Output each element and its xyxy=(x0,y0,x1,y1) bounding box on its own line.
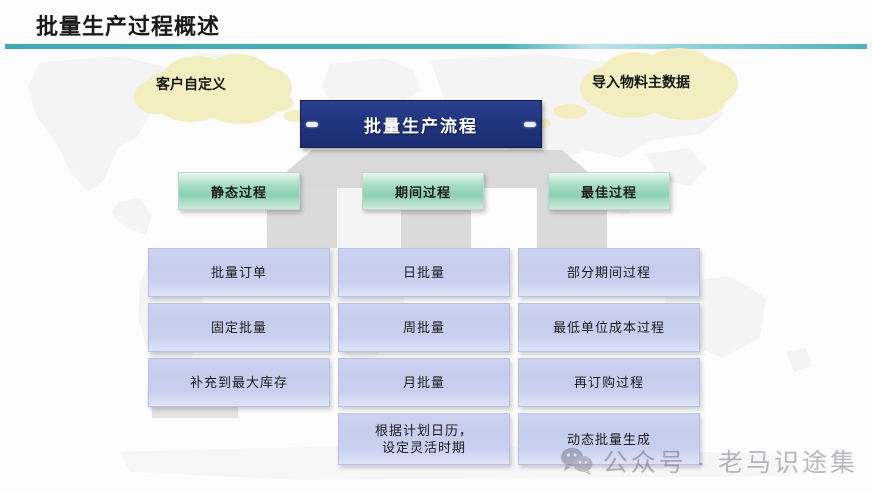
thought-cloud-left: 客户自定义 xyxy=(128,54,308,134)
item-label: 批量订单 xyxy=(211,264,267,281)
item-label: 部分期间过程 xyxy=(567,264,651,281)
item-label: 固定批量 xyxy=(211,319,267,336)
item-box[interactable]: 固定批量 xyxy=(148,303,330,352)
column-header-2-label: 期间过程 xyxy=(395,182,451,201)
item-label: 周批量 xyxy=(403,319,445,336)
banner-label: 批量生产流程 xyxy=(364,112,478,137)
item-box[interactable]: 动态批量生成 xyxy=(518,413,700,465)
item-label: 根据计划日历， 设定灵活时期 xyxy=(375,422,473,456)
item-box[interactable]: 周批量 xyxy=(338,303,510,352)
item-box[interactable]: 批量订单 xyxy=(148,248,330,297)
column-header-2[interactable]: 期间过程 xyxy=(362,172,484,210)
column-header-1[interactable]: 静态过程 xyxy=(178,172,300,210)
item-box[interactable]: 再订购过程 xyxy=(518,358,700,407)
column-header-1-label: 静态过程 xyxy=(211,182,267,201)
banner-knob-left xyxy=(306,122,318,127)
cloud-left-tail-1 xyxy=(264,95,294,111)
column-header-3[interactable]: 最佳过程 xyxy=(548,172,670,210)
item-box[interactable]: 补充到最大库存 xyxy=(148,358,330,407)
banner-knob-right xyxy=(524,122,536,127)
item-box[interactable]: 月批量 xyxy=(338,358,510,407)
item-label: 补充到最大库存 xyxy=(190,374,288,391)
item-label: 再订购过程 xyxy=(574,374,644,391)
page-title: 批量生产过程概述 xyxy=(36,9,220,41)
cloud-right-label: 导入物料主数据 xyxy=(592,72,690,92)
item-label: 月批量 xyxy=(403,374,445,391)
slide-canvas: 批量生产过程概述 客户自定义 导入物料主数据 批量生产流程 静态过程 xyxy=(0,0,872,491)
item-box[interactable]: 根据计划日历， 设定灵活时期 xyxy=(338,413,510,465)
main-banner[interactable]: 批量生产流程 xyxy=(300,100,542,148)
column-header-3-label: 最佳过程 xyxy=(581,182,637,201)
cloud-right-tail-1 xyxy=(553,104,587,119)
item-box[interactable]: 部分期间过程 xyxy=(518,248,700,297)
item-box[interactable]: 日批量 xyxy=(338,248,510,297)
cloud-left-label: 客户自定义 xyxy=(156,74,226,94)
thought-cloud-right: 导入物料主数据 xyxy=(568,48,748,128)
item-label: 最低单位成本过程 xyxy=(553,319,665,336)
item-box[interactable]: 最低单位成本过程 xyxy=(518,303,700,352)
item-label: 日批量 xyxy=(403,264,445,281)
item-label: 动态批量生成 xyxy=(567,431,651,448)
